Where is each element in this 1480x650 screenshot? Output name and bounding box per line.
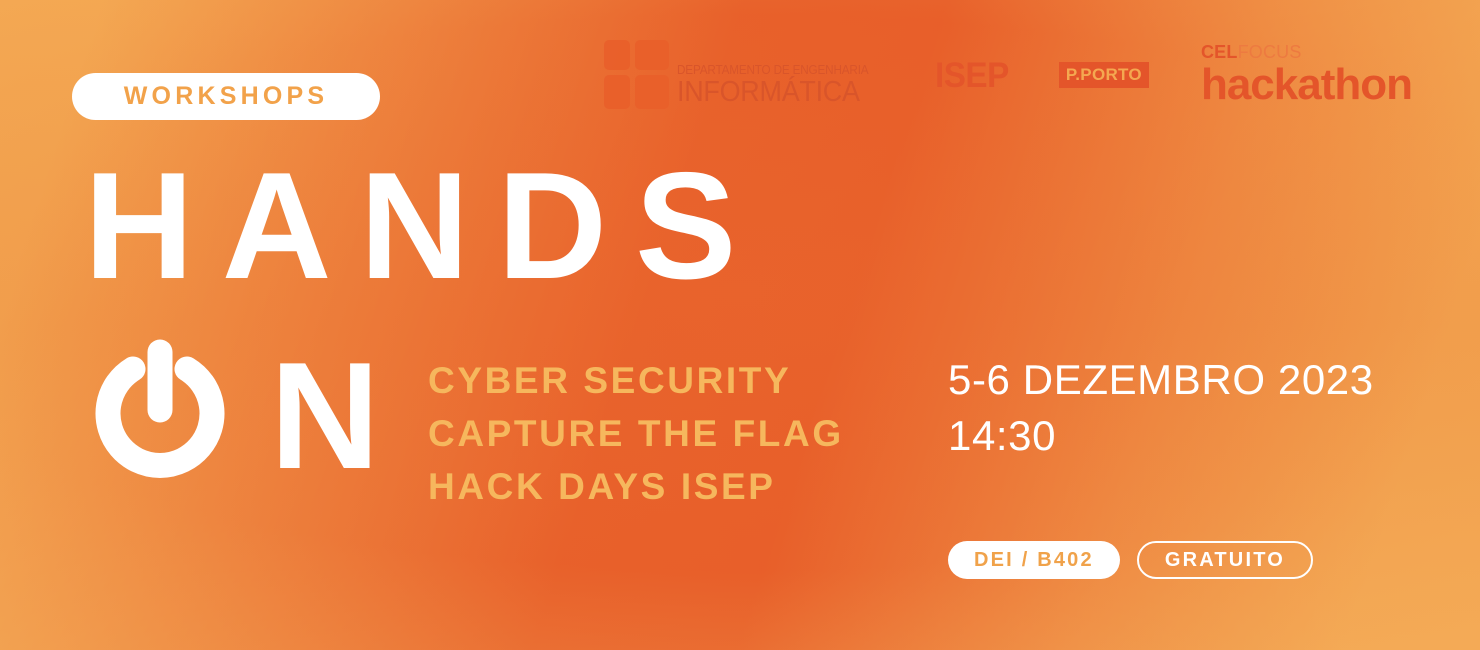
- dei-logo-text: DEPARTAMENTO DE ENGENHARIA INFORMÁTICA: [677, 40, 881, 110]
- dei-logo-line2: INFORMÁTICA: [677, 78, 866, 108]
- event-date: 5-6 DEZEMBRO 2023: [948, 352, 1374, 408]
- isep-logo: ISEP: [935, 58, 1009, 93]
- headline-letter-n: N: [270, 340, 380, 492]
- subtitle-line-2: CAPTURE THE FLAG: [428, 407, 844, 460]
- hackathon-wordmark: hackathon: [1201, 63, 1412, 108]
- subtitle-line-1: CYBER SECURITY: [428, 354, 844, 407]
- dei-logo: DEPARTAMENTO DE ENGENHARIA INFORMÁTICA: [604, 40, 881, 110]
- headline-line-on: N: [84, 330, 380, 502]
- dei-squares-icon: [604, 40, 670, 108]
- headline-line-hands: HANDS: [84, 150, 764, 302]
- celfocus-brand: CELFOCUS: [1201, 43, 1302, 61]
- power-icon: [84, 336, 236, 496]
- event-time: 14:30: [948, 408, 1374, 464]
- event-banner: WORKSHOPS DEPARTAMENTO DE ENGENHARIA INF…: [0, 0, 1480, 650]
- subtitle-line-3: HACK DAYS ISEP: [428, 460, 844, 513]
- workshops-badge-label: WORKSHOPS: [124, 84, 328, 109]
- subtitle-list: CYBER SECURITY CAPTURE THE FLAG HACK DAY…: [428, 354, 844, 513]
- dei-logo-line1: DEPARTAMENTO DE ENGENHARIA: [677, 64, 868, 77]
- event-datetime: 5-6 DEZEMBRO 2023 14:30: [948, 352, 1374, 464]
- info-badge-row: DEI / B402 GRATUITO: [948, 541, 1313, 579]
- celfocus-brand-bold: CEL: [1201, 42, 1238, 62]
- pporto-logo: P.PORTO: [1059, 62, 1149, 88]
- workshops-badge: WORKSHOPS: [72, 73, 380, 120]
- location-badge: DEI / B402: [948, 541, 1120, 579]
- celfocus-hackathon-logo: CELFOCUS hackathon: [1201, 43, 1412, 108]
- price-badge: GRATUITO: [1137, 541, 1313, 579]
- partner-logo-row: DEPARTAMENTO DE ENGENHARIA INFORMÁTICA I…: [604, 36, 1412, 114]
- celfocus-brand-light: FOCUS: [1238, 42, 1302, 62]
